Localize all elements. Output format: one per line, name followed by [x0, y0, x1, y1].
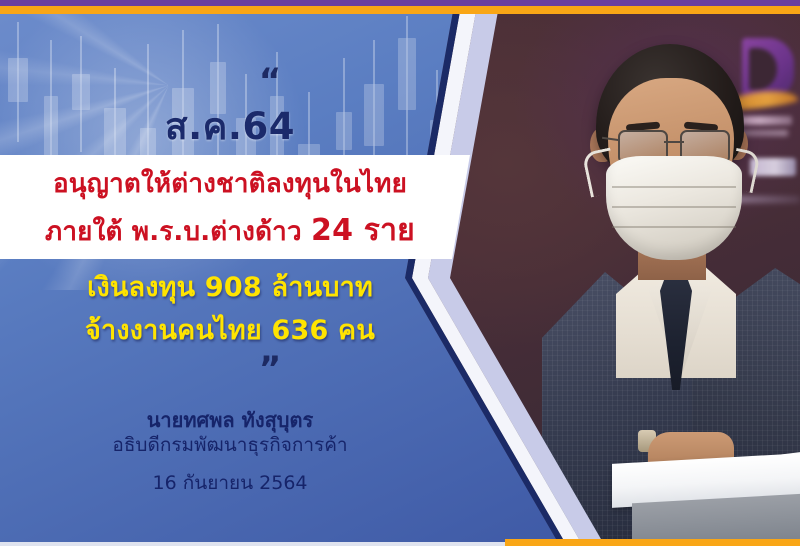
quote-close-mark: ”: [0, 352, 670, 386]
glasses-bridge: [664, 141, 684, 143]
mask-pleat: [612, 206, 736, 208]
headline-line-1: อนุญาตให้ต่างชาติลงทุนในไทย: [0, 163, 460, 204]
quote-open-mark: “: [0, 64, 670, 98]
news-quote-card: “ ส.ค.64 อนุญาตให้ต่างชาติลงทุนในไทย ภาย…: [0, 0, 800, 546]
face-mask-icon: [606, 156, 742, 260]
mask-pleat: [612, 186, 736, 188]
bottom-orange-bar: [505, 539, 800, 546]
top-orange-bar: [0, 6, 800, 14]
publication-date: 16 กันยายน 2564: [0, 468, 460, 498]
mask-pleat: [612, 226, 736, 228]
stat-employment: จ้างงานคนไทย 636 คน: [0, 308, 460, 351]
headline-company-count: 24 ราย: [311, 213, 415, 248]
bottom-light-strip: [0, 542, 520, 546]
speaker-role: อธิบดีกรมพัฒนาธุรกิจการค้า: [0, 430, 460, 460]
headline-line-2: ภายใต้ พ.ร.บ.ต่างด้าว 24 ราย: [0, 207, 460, 254]
stat-investment: เงินลงทุน 908 ล้านบาท: [0, 265, 460, 308]
month-label: ส.ค.64: [0, 97, 460, 156]
headline-line-2-prefix: ภายใต้ พ.ร.บ.ต่างด้าว: [45, 217, 311, 247]
